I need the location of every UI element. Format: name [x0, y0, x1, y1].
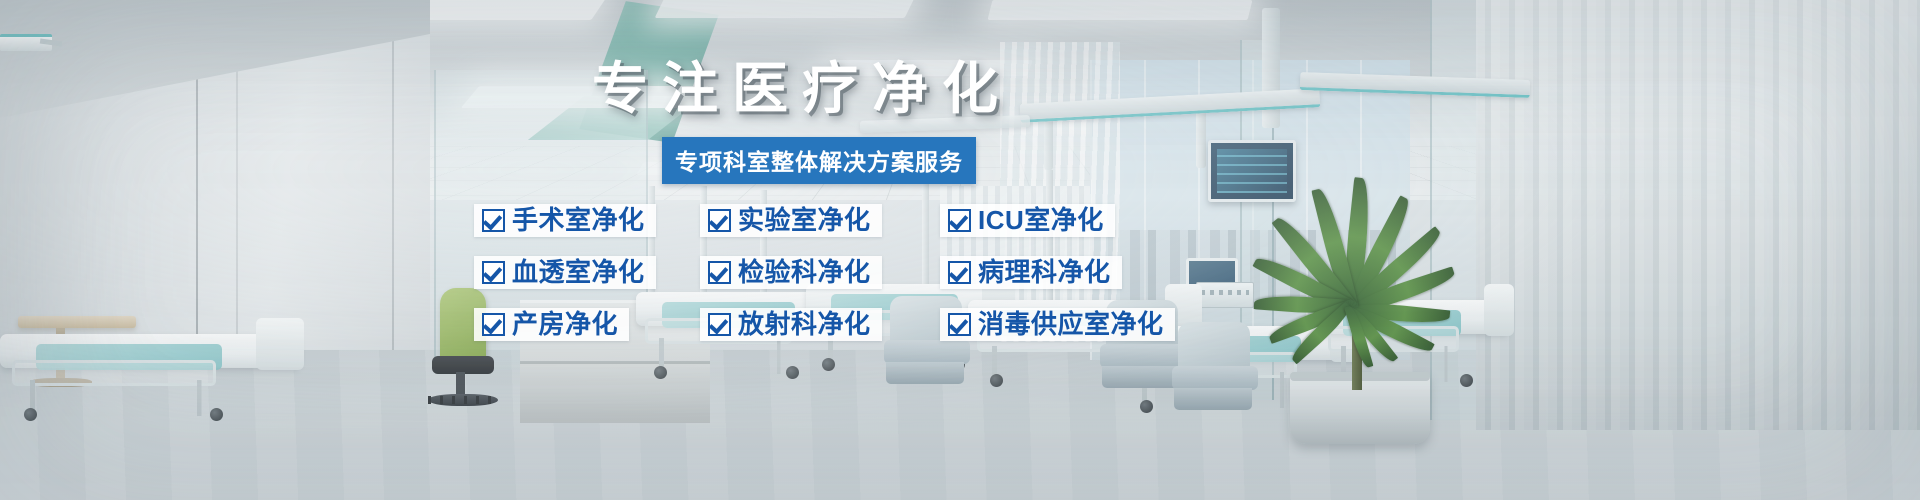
checked-checkbox-icon: [948, 313, 971, 336]
checked-checkbox-icon: [708, 261, 731, 284]
checklist-item[interactable]: 血透室净化: [474, 256, 656, 289]
checklist-item-label: ICU室净化: [978, 207, 1104, 233]
checklist-item-label: 放射科净化: [738, 311, 871, 337]
checked-checkbox-icon: [482, 313, 505, 336]
checklist-item-label: 血透室净化: [512, 259, 645, 285]
checklist-item[interactable]: 消毒供应室净化: [940, 308, 1175, 341]
checklist-item-label: 手术室净化: [512, 207, 645, 233]
checklist-item[interactable]: 实验室净化: [700, 204, 882, 237]
checklist-item[interactable]: ICU室净化: [940, 204, 1115, 237]
checked-checkbox-icon: [482, 209, 505, 232]
checked-checkbox-icon: [482, 261, 505, 284]
service-checklist: 手术室净化血透室净化产房净化实验室净化检验科净化放射科净化ICU室净化病理科净化…: [0, 0, 1920, 500]
checked-checkbox-icon: [948, 209, 971, 232]
checklist-item[interactable]: 病理科净化: [940, 256, 1122, 289]
checked-checkbox-icon: [708, 209, 731, 232]
checklist-item-label: 检验科净化: [738, 259, 871, 285]
checklist-item-label: 消毒供应室净化: [978, 311, 1164, 337]
checklist-item-label: 实验室净化: [738, 207, 871, 233]
checklist-item-label: 产房净化: [512, 311, 618, 337]
checked-checkbox-icon: [708, 313, 731, 336]
checklist-item[interactable]: 产房净化: [474, 308, 629, 341]
checklist-item[interactable]: 检验科净化: [700, 256, 882, 289]
hero-banner: 专注医疗净化 专项科室整体解决方案服务 手术室净化血透室净化产房净化实验室净化检…: [0, 0, 1920, 500]
checklist-item[interactable]: 放射科净化: [700, 308, 882, 341]
checklist-item-label: 病理科净化: [978, 259, 1111, 285]
checklist-item[interactable]: 手术室净化: [474, 204, 656, 237]
checked-checkbox-icon: [948, 261, 971, 284]
